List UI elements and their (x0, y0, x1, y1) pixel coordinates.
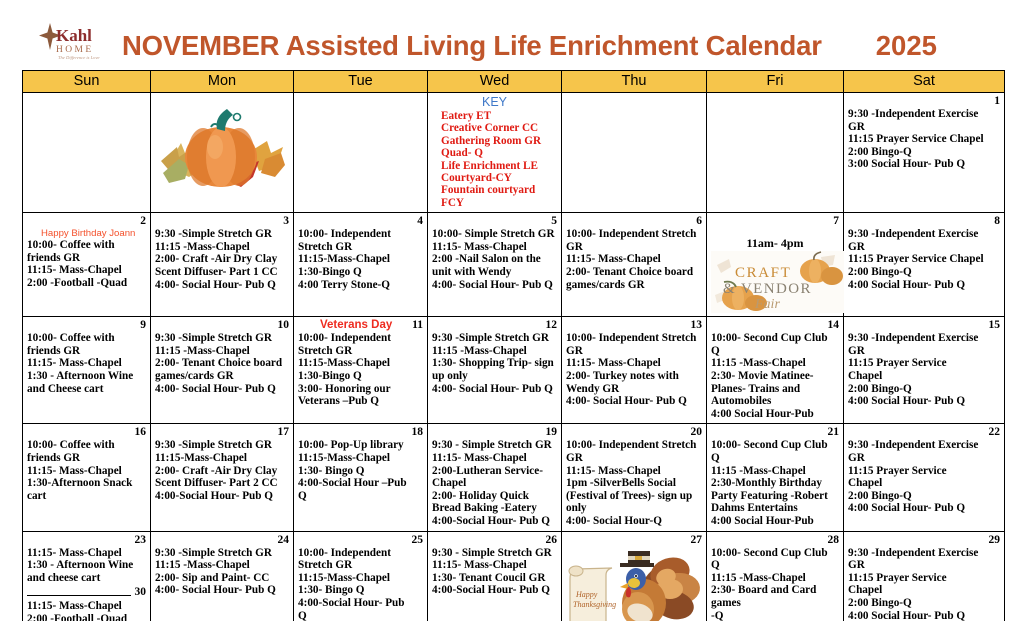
day-cell-8[interactable]: 8 9:30 -Independent Exercise GR 11:15 Pr… (844, 213, 1005, 317)
event-item: GR (848, 121, 1000, 134)
day-cell-empty-sun[interactable] (23, 93, 151, 213)
day-cell-pumpkin-art[interactable] (151, 93, 294, 213)
event-item: 3:00 Social Hour- Pub Q (848, 158, 1000, 171)
holiday-label: Veterans Day (320, 319, 392, 331)
weekday-header-row: Sun Mon Tue Wed Thu Fri Sat (23, 71, 1005, 93)
event-item: 4:00- Social Hour- Pub Q (432, 279, 557, 292)
day-cell-19[interactable]: 19 9:30 - Simple Stretch GR 11:15- Mass-… (428, 424, 562, 531)
event-list: 9:30 -Simple Stretch GR 11:15-Mass-Chape… (155, 439, 289, 502)
day-number: 22 (848, 426, 1000, 439)
event-item: 3:00- Honoring our (298, 383, 423, 396)
event-item: 10:00- Pop-Up library (298, 439, 423, 452)
svg-text:Kahl: Kahl (56, 26, 92, 45)
day-number: 26 (432, 534, 557, 547)
event-item: 11:15- Mass-Chapel (432, 559, 557, 572)
event-item: 11:15- Mass-Chapel (27, 600, 146, 613)
svg-text:Fair: Fair (754, 297, 780, 312)
event-item: 11:15- Mass-Chapel (27, 264, 146, 277)
event-item: 2:00- Holiday Quick (432, 490, 557, 503)
day-number: 14 (711, 319, 839, 332)
event-item: 11:15 -Mass-Chapel (155, 559, 289, 572)
event-item: 11:15 -Mass-Chapel (711, 465, 839, 478)
calendar-table: Sun Mon Tue Wed Thu Fri Sat (22, 70, 1005, 621)
column-header-tue: Tue (294, 71, 428, 93)
svg-text:& VENDOR: & VENDOR (723, 281, 812, 297)
birthday-note: Happy Birthday Joann (27, 228, 146, 239)
event-item: 10:00- Coffee with (27, 332, 146, 345)
event-item: Stretch GR (298, 345, 423, 358)
event-item: 11:15-Mass-Chapel (298, 357, 423, 370)
event-list: 9:30 - Simple Stretch GR 11:15- Mass-Cha… (432, 439, 557, 527)
event-item: 4:00 Social Hour- Pub Q (848, 279, 1000, 292)
event-item: Dahms Entertains (711, 502, 839, 515)
event-item: cart (27, 490, 146, 503)
event-list: 10:00- Independent Stretch GR 11:15- Mas… (566, 439, 702, 527)
event-list-30: 11:15- Mass-Chapel 2:00 -Football -Quad (27, 600, 146, 621)
event-list: 10:00- Independent Stretch GR 11:15- Mas… (566, 332, 702, 408)
event-item: 1:30 - Afternoon Wine (27, 370, 146, 383)
event-item: GR (566, 452, 702, 465)
day-number: 1 (848, 95, 1000, 108)
event-list: 9:30 -Independent Exercise GR 11:15 Pray… (848, 332, 1000, 408)
event-item: 9:30 -Independent Exercise (848, 547, 1000, 560)
pumpkin-autumn-leaves-icon (155, 95, 296, 194)
event-item: 4:00 Social Hour- Pub Q (848, 610, 1000, 621)
event-item: 1:30 - Afternoon Wine (27, 559, 146, 572)
day-cell-7[interactable]: 7 11am- 4pm (707, 213, 844, 317)
key-item: Quad- Q (441, 147, 557, 159)
day-cell-empty-thu[interactable] (562, 93, 707, 213)
svg-text:The Difference is Love: The Difference is Love (58, 55, 100, 60)
divider-rule (27, 595, 131, 596)
day-cell-11[interactable]: Veterans Day 11 10:00- Independent Stret… (294, 317, 428, 424)
event-item: Stretch GR (298, 559, 423, 572)
day-number: 27 (566, 534, 702, 547)
column-header-sun: Sun (23, 71, 151, 93)
event-item: 1:30- Tenant Coucil GR (432, 572, 557, 585)
event-list: 10:00- Independent Stretch GR 11:15- Mas… (566, 228, 702, 291)
day-cell-18[interactable]: 18 10:00- Pop-Up library 11:15-Mass-Chap… (294, 424, 428, 531)
event-item: 2:00- Tenant Choice board (566, 266, 702, 279)
day-number: 17 (155, 426, 289, 439)
event-list: 9:30 - Simple Stretch GR 11:15- Mass-Cha… (432, 547, 557, 597)
event-list: 10:00- Second Cup Club Q 11:15 -Mass-Cha… (711, 547, 839, 621)
day-number: 8 (848, 215, 1000, 228)
event-list: 9:30 -Simple Stretch GR 11:15 -Mass-Chap… (432, 332, 557, 395)
day-divider: 30 (27, 586, 146, 599)
event-item: 4:00-Social Hour- Pub Q (155, 490, 289, 503)
event-item: 2:00- Sip and Paint- CC (155, 572, 289, 585)
day-number: 15 (848, 319, 1000, 332)
event-item: 2:00- Craft -Air Dry Clay (155, 253, 289, 266)
event-item: GR (566, 241, 702, 254)
event-item: 1:30- Bingo Q (298, 465, 423, 478)
column-header-mon: Mon (151, 71, 294, 93)
event-item: 2:00 Bingo-Q (848, 597, 1000, 610)
event-item: Q (298, 610, 423, 621)
day-number: 18 (298, 426, 423, 439)
craft-and-vendor-fair-icon: CRAFT & VENDOR Fair (711, 251, 844, 313)
event-item: 10:00- Independent Stretch (566, 228, 702, 241)
event-item: 4:00 Terry Stone-Q (298, 279, 423, 292)
day-number: 20 (566, 426, 702, 439)
event-item: 2:00 Bingo-Q (848, 266, 1000, 279)
day-number: 29 (848, 534, 1000, 547)
event-list: 11:15- Mass-Chapel 1:30 - Afternoon Wine… (27, 547, 146, 585)
event-item: 4:00 Social Hour-Pub (711, 408, 839, 421)
day-cell-14[interactable]: 14 10:00- Second Cup Club Q 11:15 -Mass-… (707, 317, 844, 424)
column-header-sat: Sat (844, 71, 1005, 93)
event-item: Planes- Trains and (711, 383, 839, 396)
event-item: Stretch GR (298, 241, 423, 254)
event-item: 10:00- Simple Stretch GR (432, 228, 557, 241)
column-header-wed: Wed (428, 71, 562, 93)
day-cell-22[interactable]: 22 9:30 -Independent Exercise GR 11:15 P… (844, 424, 1005, 531)
event-list: 10:00- Pop-Up library 11:15-Mass-Chapel … (298, 439, 423, 502)
key-item: Fountain courtyard FCY (441, 184, 557, 209)
event-item: Party Featuring -Robert (711, 490, 839, 503)
event-item: GR (848, 345, 1000, 358)
event-item: 9:30 - Simple Stretch GR (432, 547, 557, 560)
event-item: 10:00- Independent (298, 332, 423, 345)
event-item: only (566, 502, 702, 515)
day-number: 3 (155, 215, 289, 228)
day-cell-5[interactable]: 5 10:00- Simple Stretch GR 11:15- Mass-C… (428, 213, 562, 317)
event-item: 2:00 Bingo-Q (848, 383, 1000, 396)
event-item: 11:15 Prayer Service (848, 572, 1000, 585)
event-item: 2:00 -Nail Salon on the (432, 253, 557, 266)
event-item: 4:00- Social Hour- Pub Q (432, 383, 557, 396)
day-cell-6[interactable]: 6 10:00- Independent Stretch GR 11:15- M… (562, 213, 707, 317)
event-item: 1pm -SilverBells Social (566, 477, 702, 490)
event-item: 2:00- Craft -Air Dry Clay (155, 465, 289, 478)
event-list: 10:00- Coffee with friends GR 11:15- Mas… (27, 439, 146, 502)
event-item: 10:00- Coffee with (27, 439, 146, 452)
day-cell-16[interactable]: 16 10:00- Coffee with friends GR 11:15- … (23, 424, 151, 531)
event-item: 11:15 -Mass-Chapel (155, 345, 289, 358)
event-item: 2:00-Lutheran Service- (432, 465, 557, 478)
event-item: 2:00- Turkey notes with (566, 370, 702, 383)
day-number: 7 (711, 215, 839, 228)
event-item: 11:15-Mass-Chapel (298, 253, 423, 266)
event-item: 2:00 -Football -Quad (27, 277, 146, 290)
day-cell-24[interactable]: 24 9:30 -Simple Stretch GR 11:15 -Mass-C… (151, 531, 294, 621)
event-list: 10:00- Independent Stretch GR 11:15-Mass… (298, 547, 423, 621)
craft-fair-time: 11am- 4pm (711, 236, 839, 251)
event-item: games/cards GR (566, 279, 702, 292)
day-cell-28[interactable]: 28 10:00- Second Cup Club Q 11:15 -Mass-… (707, 531, 844, 621)
event-item: 4:00- Social Hour- Pub Q (155, 279, 289, 292)
calendar-year: 2025 (876, 30, 937, 62)
event-item: 9:30 -Simple Stretch GR (155, 228, 289, 241)
event-item: 11:15 -Mass-Chapel (711, 357, 839, 370)
event-item: 4:00-Social Hour –Pub (298, 477, 423, 490)
event-item: 2:00- Tenant Choice board (155, 357, 289, 370)
event-list: 9:30 -Independent Exercise GR 11:15 Pray… (848, 547, 1000, 621)
event-item: Scent Diffuser- Part 1 CC (155, 266, 289, 279)
event-item: 2:00 -Football -Quad (27, 613, 146, 621)
day-cell-27[interactable]: 27 (562, 531, 707, 621)
event-item: 4:00- Social Hour- Pub Q (566, 395, 702, 408)
event-item: 11:15 Prayer Service (848, 465, 1000, 478)
event-item: 10:00- Second Cup Club Q (711, 332, 839, 357)
event-item: (Festival of Trees)- sign up (566, 490, 702, 503)
event-list: 10:00- Second Cup Club Q 11:15 -Mass-Cha… (711, 439, 839, 527)
event-item: 11:15- Mass-Chapel (566, 465, 702, 478)
event-item: 10:00- Coffee with (27, 239, 146, 252)
event-item: 11:15 Prayer Service (848, 357, 1000, 370)
week-row-2: 2 Happy Birthday Joann 10:00- Coffee wit… (23, 213, 1005, 317)
event-item: 9:30 - Simple Stretch GR (432, 439, 557, 452)
day-number: 6 (566, 215, 702, 228)
event-item: 11:15- Mass-Chapel (432, 452, 557, 465)
event-item: friends GR (27, 345, 146, 358)
key-item: Gathering Room GR (441, 135, 557, 147)
day-cell-23-and-30[interactable]: 23 11:15- Mass-Chapel 1:30 - Afternoon W… (23, 531, 151, 621)
event-item: 1:30-Bingo Q (298, 370, 423, 383)
day-cell-29[interactable]: 29 9:30 -Independent Exercise GR 11:15 P… (844, 531, 1005, 621)
event-item: -Q (711, 610, 839, 621)
event-item: 11:15- Mass-Chapel (27, 465, 146, 478)
event-item: 4:00- Social Hour- Pub Q (155, 383, 289, 396)
key-title: KEY (432, 95, 557, 109)
event-item: 4:00-Social Hour- Pub Q (432, 584, 557, 597)
page-header: Kahl HOME The Difference is Love NOVEMBE… (0, 0, 1024, 70)
calendar-page: Kahl HOME The Difference is Love NOVEMBE… (0, 0, 1024, 621)
event-item: 2:00 Bingo-Q (848, 146, 1000, 159)
day-number: 13 (566, 319, 702, 332)
event-item: 9:30 -Independent Exercise (848, 228, 1000, 241)
event-item: 10:00- Second Cup Club Q (711, 547, 839, 572)
day-number: 4 (298, 215, 423, 228)
event-item: unit with Wendy (432, 266, 557, 279)
event-item: 9:30 -Independent Exercise (848, 332, 1000, 345)
event-item: and Cheese cart (27, 383, 146, 396)
day-number: 10 (155, 319, 289, 332)
event-item: 11:15- Mass-Chapel (27, 357, 146, 370)
event-item: 11:15 -Mass-Chapel (155, 241, 289, 254)
event-item: 10:00- Independent (298, 547, 423, 560)
event-item: 1:30-Afternoon Snack (27, 477, 146, 490)
day-cell-4[interactable]: 4 10:00- Independent Stretch GR 11:15-Ma… (294, 213, 428, 317)
event-item: 11:15-Mass-Chapel (298, 572, 423, 585)
event-item: 11:15- Mass-Chapel (27, 547, 146, 560)
event-item: 4:00 Social Hour-Pub (711, 515, 839, 528)
event-item: 10:00- Independent (298, 228, 423, 241)
week-row-5: 23 11:15- Mass-Chapel 1:30 - Afternoon W… (23, 531, 1005, 621)
event-item: GR (848, 452, 1000, 465)
event-item: 10:00- Independent Stretch (566, 332, 702, 345)
event-item: 1:30- Shopping Trip- sign (432, 357, 557, 370)
event-item: 11:15 Prayer Service Chapel (848, 133, 1000, 146)
svg-text:CRAFT: CRAFT (735, 265, 791, 281)
key-item: Eatery ET (441, 110, 557, 122)
event-item: 9:30 -Simple Stretch GR (155, 439, 289, 452)
day-number: 23 (27, 534, 146, 547)
day-cell-12[interactable]: 12 9:30 -Simple Stretch GR 11:15 -Mass-C… (428, 317, 562, 424)
event-item: GR (848, 241, 1000, 254)
event-item: 11:15 -Mass-Chapel (711, 572, 839, 585)
week-row-3: 9 10:00- Coffee with friends GR 11:15- M… (23, 317, 1005, 424)
key-items: Eatery ET Creative Corner CC Gathering R… (432, 110, 557, 209)
event-item: Bread Baking -Eatery (432, 502, 557, 515)
event-list: 9:30 -Independent Exercise GR 11:15 Pray… (848, 108, 1000, 171)
day-number: 16 (27, 426, 146, 439)
event-item: GR (566, 345, 702, 358)
event-item: 2:30-Monthly Birthday (711, 477, 839, 490)
event-list: 10:00- Coffee with friends GR 11:15- Mas… (27, 332, 146, 395)
event-item: 2:30- Board and Card games (711, 584, 839, 609)
day-cell-1[interactable]: 1 9:30 -Independent Exercise GR 11:15 Pr… (844, 93, 1005, 213)
event-item: 4:00- Social Hour-Q (566, 515, 702, 528)
event-item: 4:00 Social Hour- Pub Q (848, 502, 1000, 515)
event-item: Automobiles (711, 395, 839, 408)
event-list: 9:30 -Independent Exercise GR 11:15 Pray… (848, 228, 1000, 291)
event-item: 2:00 Bingo-Q (848, 490, 1000, 503)
day-cell-26[interactable]: 26 9:30 - Simple Stretch GR 11:15- Mass-… (428, 531, 562, 621)
day-number: 24 (155, 534, 289, 547)
event-item: 9:30 -Independent Exercise (848, 108, 1000, 121)
event-item: 11:15- Mass-Chapel (432, 241, 557, 254)
event-item: Scent Diffuser- Part 2 CC (155, 477, 289, 490)
day-cell-empty-tue[interactable] (294, 93, 428, 213)
event-item: 10:00- Second Cup Club Q (711, 439, 839, 464)
event-item: Chapel (432, 477, 557, 490)
day-cell-2[interactable]: 2 Happy Birthday Joann 10:00- Coffee wit… (23, 213, 151, 317)
day-number: 28 (711, 534, 839, 547)
column-header-thu: Thu (562, 71, 707, 93)
day-number: 25 (298, 534, 423, 547)
key-legend-cell[interactable]: KEY Eatery ET Creative Corner CC Gatheri… (428, 93, 562, 213)
day-number: 12 (432, 319, 557, 332)
event-list: 10:00- Independent Stretch GR 11:15-Mass… (298, 228, 423, 291)
day-cell-15[interactable]: 15 9:30 -Independent Exercise GR 11:15 P… (844, 317, 1005, 424)
event-item: 11:15 -Mass-Chapel (432, 345, 557, 358)
event-item: 11:15-Mass-Chapel (155, 452, 289, 465)
day-number: 5 (432, 215, 557, 228)
event-item: Chapel (848, 477, 1000, 490)
event-list: 10:00- Second Cup Club Q 11:15 -Mass-Cha… (711, 332, 839, 420)
key-item: Courtyard-CY (441, 172, 557, 184)
event-list: 10:00- Coffee with friends GR 11:15- Mas… (27, 239, 146, 289)
event-item: 9:30 -Simple Stretch GR (432, 332, 557, 345)
event-item: 9:30 -Simple Stretch GR (155, 547, 289, 560)
day-number: 9 (27, 319, 146, 332)
event-item: 10:00- Independent Stretch (566, 439, 702, 452)
event-item: 11:15-Mass-Chapel (298, 452, 423, 465)
event-list: 10:00- Independent Stretch GR 11:15-Mass… (298, 332, 423, 408)
day-number: 2 (27, 215, 146, 228)
thanksgiving-turkey-icon: Happy Thanksgiving (566, 547, 706, 621)
day-cell-13[interactable]: 13 10:00- Independent Stretch GR 11:15- … (562, 317, 707, 424)
event-item: friends GR (27, 452, 146, 465)
day-cell-21[interactable]: 21 10:00- Second Cup Club Q 11:15 -Mass-… (707, 424, 844, 531)
event-list: 9:30 -Simple Stretch GR 11:15 -Mass-Chap… (155, 228, 289, 291)
event-item: Chapel (848, 584, 1000, 597)
event-item: 11:15 Prayer Service Chapel (848, 253, 1000, 266)
event-item: Veterans –Pub Q (298, 395, 423, 408)
event-list: 10:00- Simple Stretch GR 11:15- Mass-Cha… (432, 228, 557, 291)
key-item: Creative Corner CC (441, 122, 557, 134)
svg-text:Thanksgiving: Thanksgiving (573, 600, 616, 609)
day-number: 19 (432, 426, 557, 439)
event-item: Wendy GR (566, 383, 702, 396)
event-item: 4:00-Social Hour- Pub (298, 597, 423, 610)
event-item: 9:30 -Independent Exercise (848, 439, 1000, 452)
event-item: friends GR (27, 252, 146, 265)
column-header-fri: Fri (707, 71, 844, 93)
event-list: 9:30 -Simple Stretch GR 11:15 -Mass-Chap… (155, 547, 289, 597)
day-cell-3[interactable]: 3 9:30 -Simple Stretch GR 11:15 -Mass-Ch… (151, 213, 294, 317)
day-cell-10[interactable]: 10 9:30 -Simple Stretch GR 11:15 -Mass-C… (151, 317, 294, 424)
event-item: 4:00-Social Hour- Pub Q (432, 515, 557, 528)
event-item: GR (848, 559, 1000, 572)
week-row-4: 16 10:00- Coffee with friends GR 11:15- … (23, 424, 1005, 531)
key-item: Life Enrichment LE (441, 160, 557, 172)
event-item: games/cards GR (155, 370, 289, 383)
event-item: Chapel (848, 370, 1000, 383)
day-cell-20[interactable]: 20 10:00- Independent Stretch GR 11:15- … (562, 424, 707, 531)
event-item: 2:30- Movie Matinee- (711, 370, 839, 383)
day-cell-17[interactable]: 17 9:30 -Simple Stretch GR 11:15-Mass-Ch… (151, 424, 294, 531)
svg-text:HOME: HOME (56, 45, 94, 55)
event-list: 9:30 -Simple Stretch GR 11:15 -Mass-Chap… (155, 332, 289, 395)
event-item: 4:00- Social Hour- Pub Q (155, 584, 289, 597)
event-item: 1:30- Bingo Q (298, 584, 423, 597)
event-item: Q (298, 490, 423, 503)
event-item: 1:30-Bingo Q (298, 266, 423, 279)
svg-text:Happy: Happy (575, 590, 598, 599)
event-item: and cheese cart (27, 572, 146, 585)
day-number: 21 (711, 426, 839, 439)
event-list: 9:30 -Independent Exercise GR 11:15 Pray… (848, 439, 1000, 515)
event-item: 9:30 -Simple Stretch GR (155, 332, 289, 345)
event-item: 11:15- Mass-Chapel (566, 253, 702, 266)
day-cell-25[interactable]: 25 10:00- Independent Stretch GR 11:15-M… (294, 531, 428, 621)
day-cell-9[interactable]: 9 10:00- Coffee with friends GR 11:15- M… (23, 317, 151, 424)
event-item: 11:15- Mass-Chapel (566, 357, 702, 370)
event-item: up only (432, 370, 557, 383)
day-cell-empty-fri[interactable] (707, 93, 844, 213)
week-row-1: KEY Eatery ET Creative Corner CC Gatheri… (23, 93, 1005, 213)
day-number-30: 30 (135, 586, 147, 598)
event-item: 4:00 Social Hour- Pub Q (848, 395, 1000, 408)
page-title: NOVEMBER Assisted Living Life Enrichment… (122, 30, 822, 62)
